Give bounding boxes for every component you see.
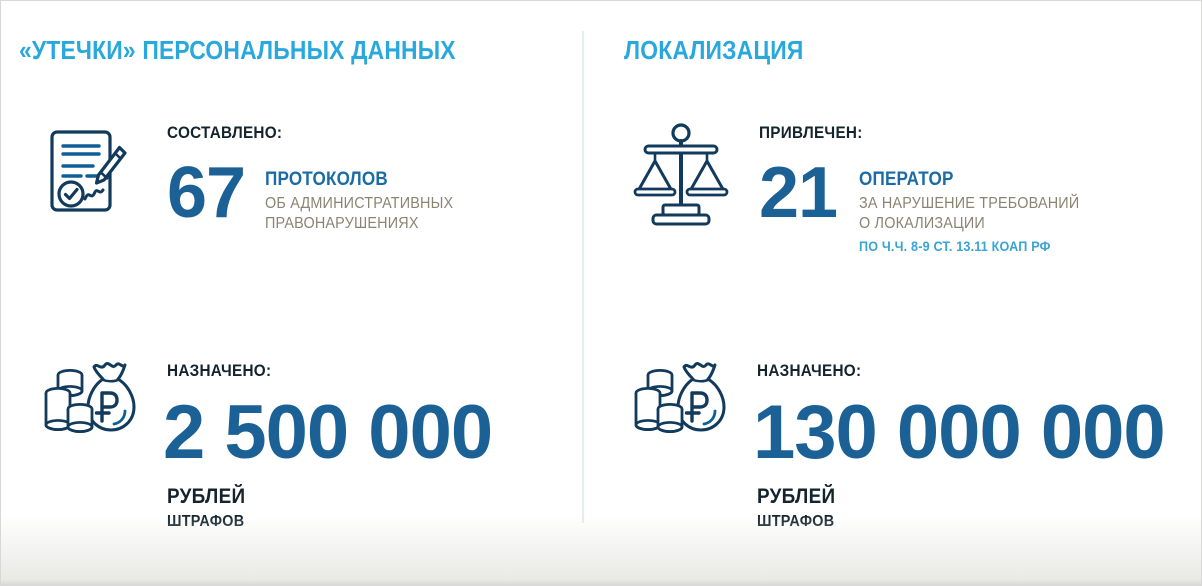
stat-block-fines-localization: НАЗНАЧЕНО: 130 000 000 РУБЛЕЙ ШТРАФОВ xyxy=(629,349,1189,529)
column-divider xyxy=(582,31,584,523)
stat-headline-protocols: ПРОТОКОЛОВ xyxy=(265,169,453,191)
stat-label-fines-localization: НАЗНАЧЕНО: xyxy=(757,361,1124,381)
money-bag-ruble-icon xyxy=(629,349,729,454)
stat-subline-operators-1: ЗА НАРУШЕНИЕ ТРЕБОВАНИЙ xyxy=(859,194,1079,214)
stat-unit-sub-fines-localization: ШТРАФОВ xyxy=(757,513,1124,531)
stat-label-operators: ПРИВЛЕЧЕН: xyxy=(759,123,1069,143)
stat-subline-protocols-2: ПРАВОНАРУШЕНИЯХ xyxy=(265,214,453,234)
stat-headline-operators: ОПЕРАТОР xyxy=(859,169,1079,191)
stat-label-fines-leaks: НАЗНАЧЕНО: xyxy=(167,361,460,381)
stat-value-fines-leaks: 2 500 000 xyxy=(163,395,492,471)
stat-unit-fines-leaks: РУБЛЕЙ xyxy=(167,485,460,509)
stat-value-protocols: 67 xyxy=(167,157,245,229)
money-bag-ruble-icon xyxy=(39,349,139,454)
stat-subline-protocols-1: ОБ АДМИНИСТРАТИВНЫХ xyxy=(265,194,453,214)
stat-value-operators: 21 xyxy=(759,157,837,229)
stat-unit-sub-fines-leaks: ШТРАФОВ xyxy=(167,513,460,531)
page-title-leaks: «УТЕЧКИ» ПЕРСОНАЛЬНЫХ ДАННЫХ xyxy=(19,35,456,66)
stat-block-fines-leaks: НАЗНАЧЕНО: 2 500 000 РУБЛЕЙ ШТРАФОВ xyxy=(39,349,559,529)
scales-of-justice-icon xyxy=(629,119,733,232)
infographic-slide: «УТЕЧКИ» ПЕРСОНАЛЬНЫХ ДАННЫХ ЛОКАЛИЗАЦИЯ xyxy=(0,0,1202,586)
stat-block-protocols: СОСТАВЛЕНО: 67 ПРОТОКОЛОВ ОБ АДМИНИСТРАТ… xyxy=(39,123,559,253)
page-title-localization: ЛОКАЛИЗАЦИЯ xyxy=(624,35,804,66)
document-pen-icon xyxy=(39,123,131,228)
stat-lawline-operators: ПО Ч.Ч. 8-9 СТ. 13.11 КОАП РФ xyxy=(859,238,1079,254)
stat-label-protocols: СОСТАВЛЕНО: xyxy=(167,123,444,143)
stat-subline-operators-2: О ЛОКАЛИЗАЦИИ xyxy=(859,214,1079,234)
stat-block-operators: ПРИВЛЕЧЕН: 21 ОПЕРАТОР ЗА НАРУШЕНИЕ ТРЕБ… xyxy=(629,119,1169,289)
stat-value-fines-localization: 130 000 000 xyxy=(753,395,1165,471)
stat-unit-fines-localization: РУБЛЕЙ xyxy=(757,485,1124,509)
